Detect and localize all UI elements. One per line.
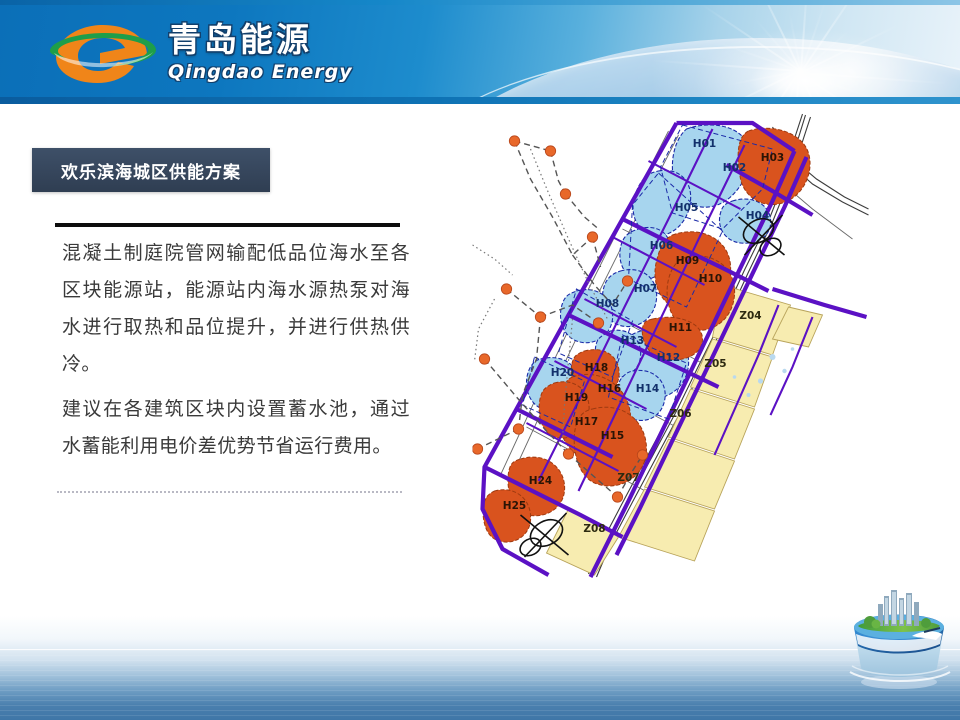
block-label-H12: H12: [657, 352, 680, 364]
block-label-H11: H11: [669, 322, 692, 334]
paragraph-2: 建议在各建筑区块内设置蓄水池，通过水蓄能利用电价差优势节省运行费用。: [62, 391, 410, 465]
brand-name-cn: 青岛能源: [168, 22, 398, 58]
block-label-H17: H17: [575, 416, 598, 428]
pipe-node[interactable]: [560, 189, 570, 199]
block-label-H02: H02: [723, 162, 746, 174]
title-divider: [55, 223, 400, 227]
block-label-Z05: Z05: [704, 358, 726, 370]
header-top-rule: [0, 0, 960, 5]
slide-root: 青岛能源 Qingdao Energy 欢乐滨海城区供能方案 混凝土制庭院管网输…: [0, 0, 960, 720]
header-bottom-rule: [0, 97, 960, 104]
pipe-node[interactable]: [509, 136, 519, 146]
body-text: 混凝土制庭院管网输配低品位海水至各区块能源站，能源站内海水源热泵对海水进行取热和…: [62, 235, 410, 473]
block-label-H05: H05: [675, 202, 698, 214]
pipe-node[interactable]: [479, 354, 489, 364]
pipe-node[interactable]: [587, 232, 597, 242]
page-title-label: 欢乐滨海城区供能方案: [61, 158, 241, 183]
eco-city-globe-icon: [840, 580, 958, 692]
sea-ripples: [0, 650, 960, 720]
district-map[interactable]: H01H02H04H05H06H07H08H12H13H14H20H03H09H…: [390, 109, 955, 579]
block-label-Z04: Z04: [739, 310, 761, 322]
block-label-H06: H06: [650, 240, 673, 252]
block-label-Z06: Z06: [669, 408, 691, 420]
block-label-H24: H24: [529, 475, 552, 487]
pipe-node[interactable]: [535, 312, 545, 322]
block-label-H09: H09: [676, 255, 699, 267]
sea-background: [0, 616, 960, 720]
block-label-H10: H10: [699, 273, 722, 285]
header-banner: 青岛能源 Qingdao Energy: [0, 0, 960, 104]
pipe-node[interactable]: [622, 276, 632, 286]
block-label-H19: H19: [565, 392, 588, 404]
brand-text: 青岛能源 Qingdao Energy: [168, 22, 398, 86]
sea-horizon-line: [0, 649, 960, 650]
block-label-H15: H15: [601, 430, 624, 442]
paragraph-1: 混凝土制庭院管网输配低品位海水至各区块能源站，能源站内海水源热泵对海水进行取热和…: [62, 235, 410, 383]
block-label-H01: H01: [693, 138, 716, 150]
block-label-H03: H03: [761, 152, 784, 164]
block-label-H07: H07: [634, 283, 657, 295]
block-label-Z08: Z08: [583, 523, 605, 535]
block-label-H14: H14: [636, 383, 659, 395]
footer-dotted-divider: [57, 491, 402, 493]
block-label-H08: H08: [596, 298, 619, 310]
block-label-H25: H25: [503, 500, 526, 512]
block-label-H13: H13: [621, 335, 644, 347]
pipe-node[interactable]: [637, 450, 647, 460]
pipe-node[interactable]: [545, 146, 555, 156]
pipe-node[interactable]: [563, 449, 573, 459]
pipe-node[interactable]: [593, 318, 603, 328]
pipe-node[interactable]: [513, 424, 523, 434]
brand-logo[interactable]: 青岛能源 Qingdao Energy: [48, 18, 388, 88]
slide-body: 欢乐滨海城区供能方案 混凝土制庭院管网输配低品位海水至各区块能源站，能源站内海水…: [0, 104, 960, 720]
block-label-Z07: Z07: [617, 472, 639, 484]
orange-e-with-green-orbit-logo-icon: [48, 20, 158, 86]
page-title: 欢乐滨海城区供能方案: [32, 148, 270, 192]
block-label-H04: H04: [746, 210, 769, 222]
brand-name-en: Qingdao Energy: [168, 60, 398, 84]
block-label-H18: H18: [585, 362, 608, 374]
sun-flare-icon: [690, 26, 920, 104]
pipe-node[interactable]: [612, 492, 622, 502]
pipe-node[interactable]: [501, 284, 511, 294]
block-label-H16: H16: [598, 383, 621, 395]
block-label-H20: H20: [551, 367, 574, 379]
pipe-node[interactable]: [472, 444, 482, 454]
